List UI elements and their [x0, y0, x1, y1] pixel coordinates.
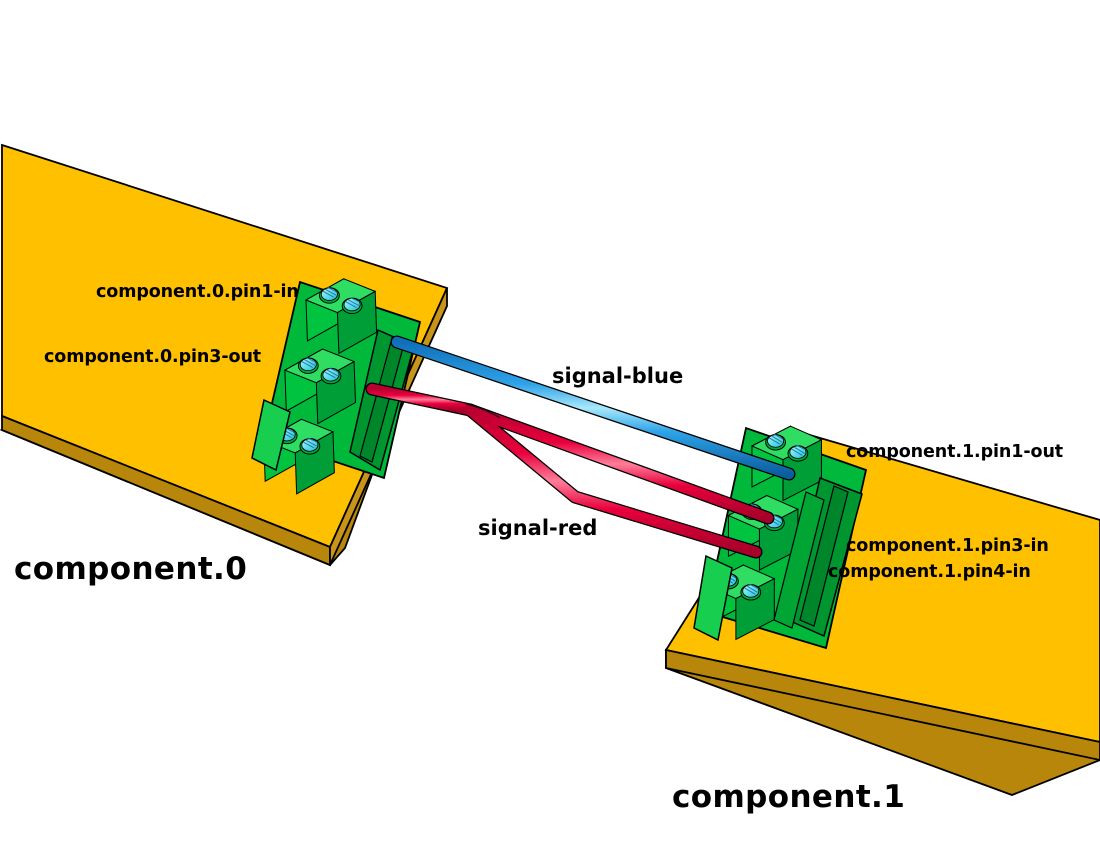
wiring-diagram-svg [0, 0, 1100, 850]
signal-label-signal-blue: signal-blue [552, 366, 683, 387]
pin-label-component-1-pin3-in: component.1.pin3-in [846, 538, 1049, 556]
pin-label-component-1-pin1-out: component.1.pin1-out [846, 444, 1063, 462]
board-label-component-1: component.1 [672, 782, 905, 813]
signal-label-signal-red: signal-red [478, 518, 597, 539]
board-label-component-0: component.0 [14, 554, 247, 585]
diagram-canvas: component.0.pin1-in component.0.pin3-out… [0, 0, 1100, 850]
pin-label-component-0-pin3-out: component.0.pin3-out [44, 349, 261, 367]
pin-label-component-1-pin4-in: component.1.pin4-in [828, 564, 1031, 582]
pin-label-component-0-pin1-in: component.0.pin1-in [96, 284, 299, 302]
